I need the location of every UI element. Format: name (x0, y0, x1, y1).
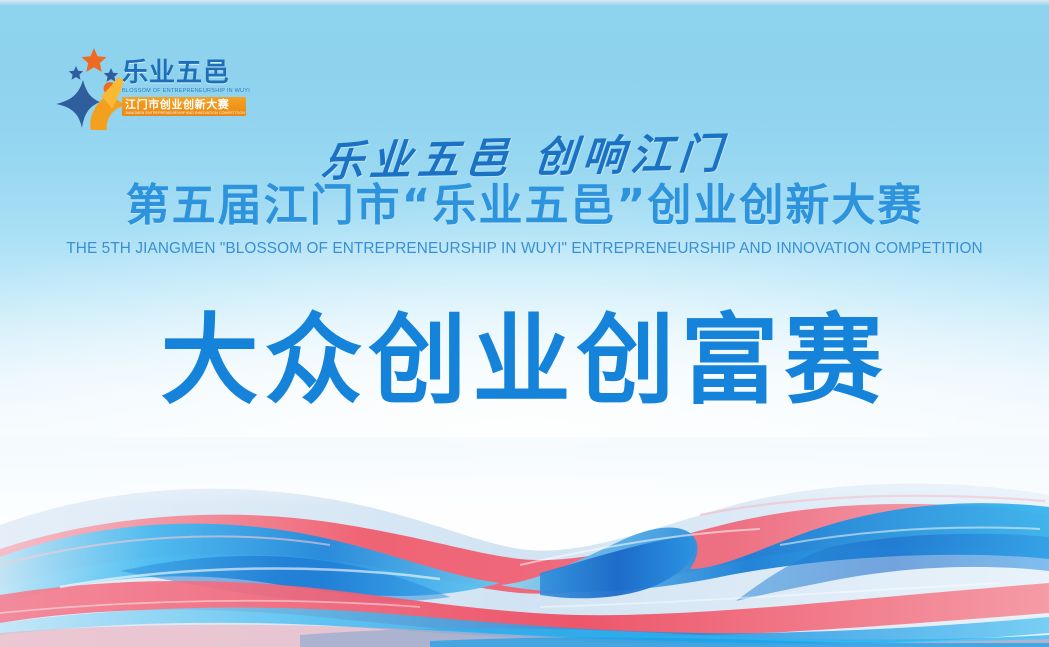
logo: 乐业五邑 BLOSSOM OF ENTREPRENEURSHIP IN WUYI… (52, 44, 252, 130)
page-title: 第五届江门市“乐业五邑”创业创新大赛 (0, 183, 1049, 229)
logo-band-en-text: JIANGMEN ENTREPRENEURSHIP AND INNOVATION… (125, 111, 243, 115)
logo-orange-band: 江门市创业创新大赛 JIANGMEN ENTREPRENEURSHIP AND … (122, 97, 246, 116)
star-person-icon (52, 44, 132, 130)
logo-en-name: BLOSSOM OF ENTREPRENEURSHIP IN WUYI (122, 88, 255, 94)
logo-band-cn-text: 江门市创业创新大赛 (125, 99, 243, 111)
poster-canvas: 乐业五邑 BLOSSOM OF ENTREPRENEURSHIP IN WUYI… (0, 0, 1049, 647)
logo-cn-name: 乐业五邑 (122, 60, 252, 86)
page-subtitle-en: THE 5TH JIANGMEN "BLOSSOM OF ENTREPRENEU… (8, 240, 1041, 258)
logo-wordmark: 乐业五邑 BLOSSOM OF ENTREPRENEURSHIP IN WUYI… (122, 60, 252, 116)
abstract-ribbon-waves (0, 437, 1049, 647)
event-headline: 大众创业创富赛 (0, 312, 1049, 410)
